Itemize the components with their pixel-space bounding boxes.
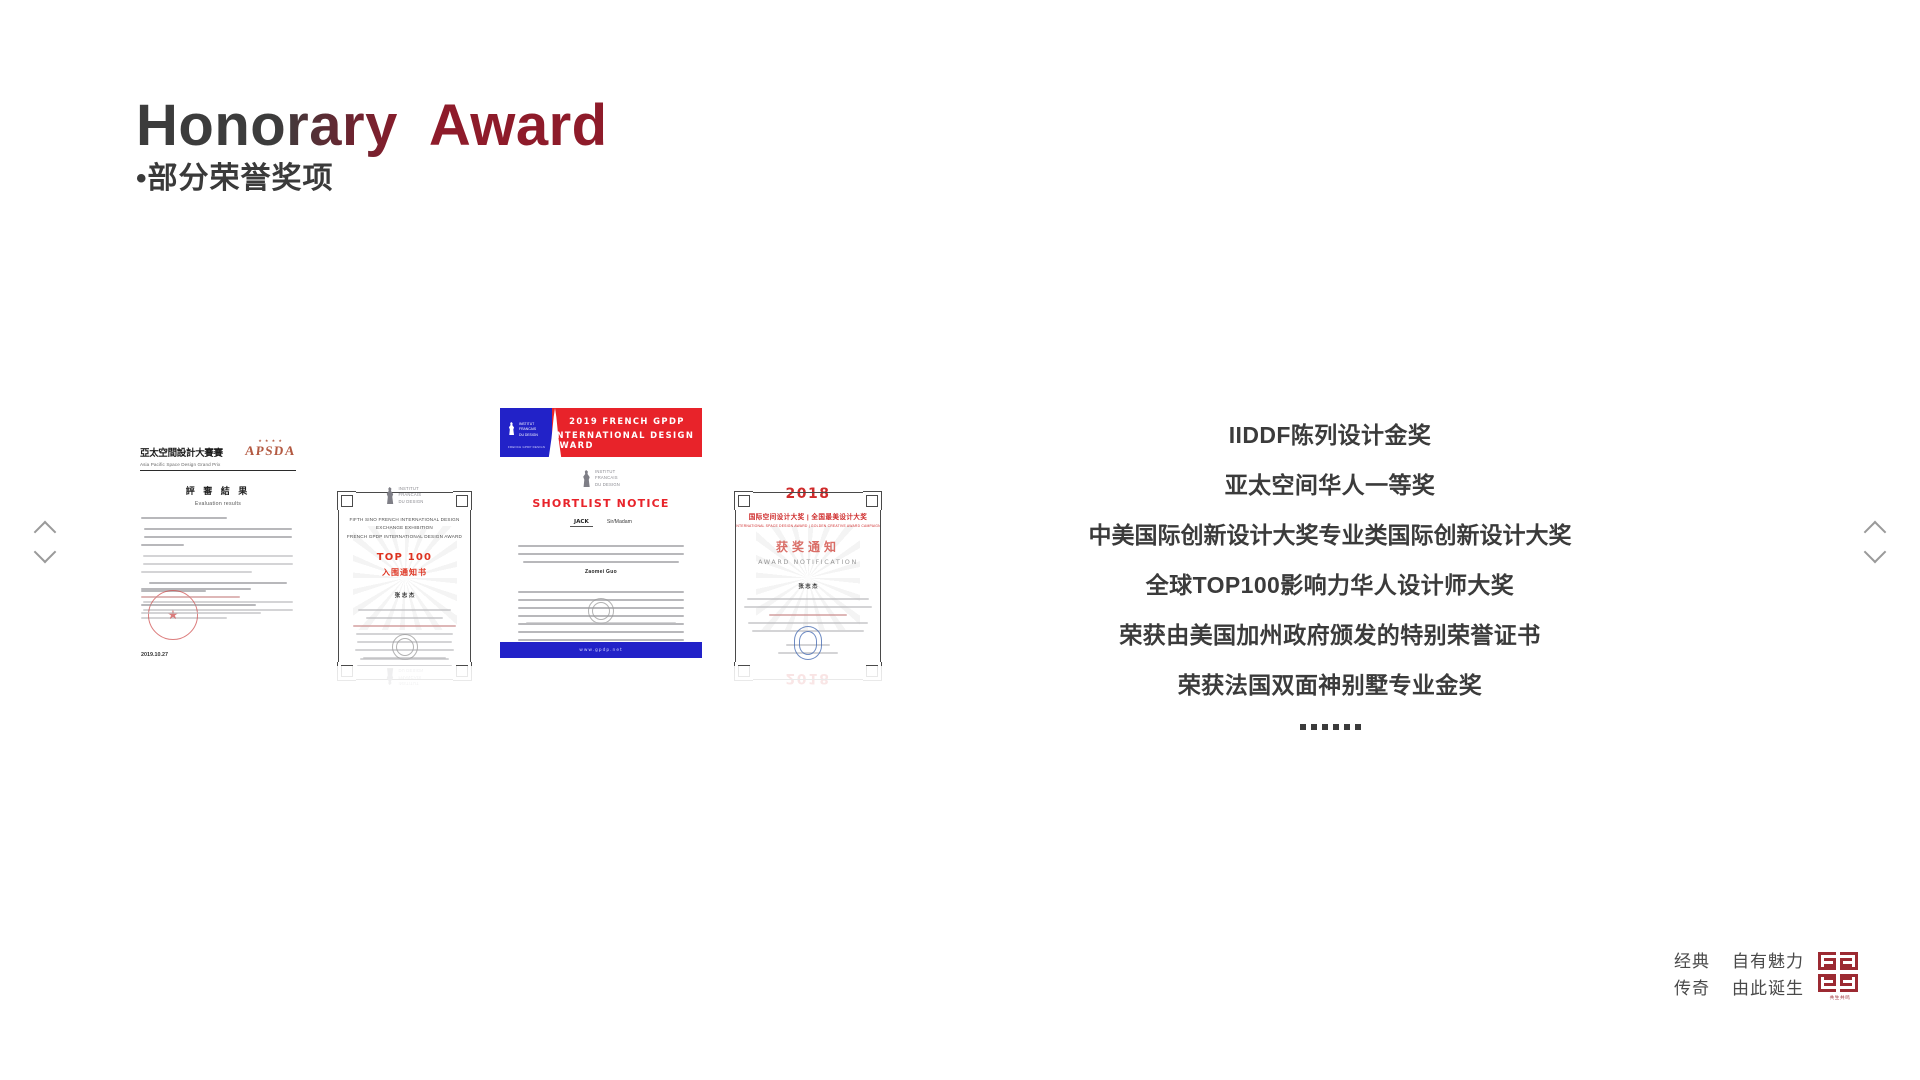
award2018-heading-en: AWARD NOTIFICATION: [729, 558, 887, 566]
ellipsis-dot: [1333, 724, 1339, 730]
maze-logo-icon: [1818, 952, 1858, 992]
top100-institute-logo: INSTITUT FRANCAIS DU DESIGN: [332, 486, 477, 505]
chevron-down-icon-left[interactable]: [34, 542, 56, 564]
shortlist-band-line1: 2019 FRENCH GPDP: [569, 416, 685, 426]
award-item-2: 中美国际创新设计大奖专业类国际创新设计大奖: [1060, 524, 1600, 547]
ellipsis-dot: [1300, 724, 1306, 730]
apsda-brand: APSDA: [244, 443, 297, 459]
award-ellipsis: [1060, 724, 1600, 730]
apsda-header: 亞太空間設計大賽賽 ★ ★ ★ ★ APSDA: [132, 430, 304, 462]
award2018-year: 2018: [729, 486, 887, 502]
top100-inst-line2: FRANCAIS: [398, 675, 421, 680]
shortlist-band-line2: INTERNATIONAL DESIGN AWARD: [552, 430, 702, 450]
page-subtitle: •部分荣誉奖项: [136, 161, 608, 197]
award-item-1: 亚太空间华人一等奖: [1060, 474, 1600, 497]
certificate-apsda[interactable]: 亞太空間設計大賽賽 ★ ★ ★ ★ APSDA Asia Pacific Spa…: [132, 430, 304, 666]
top100-ornament-border: [332, 666, 477, 686]
top100-inst-line3: DU DESIGN: [398, 668, 423, 673]
shortlist-blue-panel: INSTITUT FRANCAIS DU DESIGN FRENCH GPDP …: [500, 408, 552, 457]
award2018-ornament-border: [729, 666, 887, 686]
shortlist-url-bar: www.gpdp.net: [500, 642, 702, 658]
award2018-heading-cn: 获奖通知: [729, 538, 887, 555]
brand-tagline-col1: 经典 传奇: [1674, 949, 1710, 1002]
nav-arrows-right[interactable]: [1858, 518, 1892, 564]
ellipsis-dot: [1355, 724, 1361, 730]
brand-col2-line2: 由此诞生: [1732, 976, 1804, 1002]
apsda-subtitle-en: Asia Pacific Space Design Grand Prix: [132, 462, 304, 467]
brand-logo: 共生共鸣: [1818, 952, 1862, 1000]
shortlist-blue-footer: FRENCH GPDP DESIGN: [508, 445, 545, 449]
marianne-figure-icon-blue: [508, 422, 515, 435]
top100-en-line1: FIFTH SINO FRENCH INTERNATIONAL DESIGN: [332, 516, 477, 524]
brand-col1-line2: 传奇: [1674, 976, 1710, 1002]
ellipsis-dot: [1322, 724, 1328, 730]
ellipsis-dot: [1311, 724, 1317, 730]
shortlist-blue-line2: FRANCAIS: [519, 427, 536, 431]
top100-institute-logo: INSTITUT FRANCAIS DU DESIGN: [332, 667, 477, 686]
shortlist-header-band: INSTITUT FRANCAIS DU DESIGN FRENCH GPDP …: [500, 408, 702, 457]
top100-inst-line1: INSTITUT: [398, 681, 418, 686]
chevron-up-icon-left[interactable]: [34, 518, 56, 540]
award-item-0: IIDDF陈列设计金奖: [1060, 424, 1600, 447]
top100-en-line2: EXCHANGE EXHIBITION: [332, 524, 477, 532]
top100-inst-line2: FRANCAIS: [398, 492, 421, 497]
certificate-top100-reflection: INSTITUT FRANCAIS DU DESIGN FIFTH SINO F…: [332, 666, 477, 822]
top100-inst-line1: INSTITUT: [398, 486, 418, 491]
shortlist-title: SHORTLIST NOTICE: [500, 497, 702, 510]
shortlist-inst-line1: INSTITUT: [595, 469, 615, 474]
brand-col2-line1: 自有魅力: [1732, 949, 1804, 975]
top100-label-cn: 入围通知书: [332, 567, 477, 578]
shortlist-salutation: Sir/Madam: [607, 519, 632, 525]
top100-emblem-icon: [392, 634, 418, 660]
certificate-shortlist[interactable]: INSTITUT FRANCAIS DU DESIGN FRENCH GPDP …: [500, 408, 702, 658]
shortlist-institute-logo: INSTITUT FRANCAIS DU DESIGN: [500, 469, 702, 488]
top100-en-line3: FRENCH GPDP INTERNATIONAL DESIGN AWARD: [332, 533, 477, 541]
brand-mark-caption: 共生共鸣: [1818, 995, 1862, 1001]
top100-recipient: 张 志 杰: [332, 591, 477, 599]
page-title: Honorary Award: [136, 96, 608, 157]
shortlist-center-note: Zaomei Guo: [500, 569, 702, 575]
heading-block: Honorary Award •部分荣誉奖项: [136, 96, 608, 197]
chevron-down-icon-right[interactable]: [1864, 542, 1886, 564]
shortlist-inst-line2: FRANCAIS: [595, 475, 618, 480]
apsda-title-cn: 亞太空間設計大賽賽: [140, 445, 223, 459]
certificate-award2018-reflection: 2018 国际空间设计大奖 | 全国最美设计大奖 INTERNATIONAL S…: [729, 666, 887, 822]
brand-tagline-col2: 自有魅力 由此诞生: [1732, 949, 1804, 1002]
award-item-5: 荣获法国双面神别墅专业金奖: [1060, 674, 1600, 697]
shortlist-body-text: [500, 535, 702, 563]
shortlist-inst-line3: DU DESIGN: [595, 482, 620, 487]
award2018-year: 2018: [729, 670, 887, 686]
shortlist-recipient: JACK: [570, 519, 593, 527]
certificate-shortlist-reflection: INSTITUT FRANCAIS DU DESIGN FRENCH GPDP …: [500, 658, 702, 853]
brand-footer: 经典 传奇 自有魅力 由此诞生 共生共鸣: [1674, 949, 1862, 1002]
award-item-4: 荣获由美国加州政府颁发的特别荣誉证书: [1060, 624, 1600, 647]
marianne-figure-icon: [385, 487, 394, 504]
slide-root: Honorary Award •部分荣誉奖项 亞太空間設計大賽賽 ★ ★ ★ ★…: [0, 0, 1920, 1080]
certificate-gallery: 亞太空間設計大賽賽 ★ ★ ★ ★ APSDA Asia Pacific Spa…: [132, 408, 900, 828]
certificate-award2018[interactable]: 2018 国际空间设计大奖 | 全国最美设计大奖 INTERNATIONAL S…: [729, 466, 887, 666]
shortlist-emblem-icon: [588, 598, 614, 624]
ellipsis-dot: [1344, 724, 1350, 730]
apsda-divider: [140, 470, 296, 471]
shortlist-blue-line3: DU DESIGN: [519, 433, 538, 437]
award-item-3: 全球TOP100影响力华人设计师大奖: [1060, 574, 1600, 597]
award2018-title-cn: 国际空间设计大奖 | 全国最美设计大奖: [729, 511, 887, 521]
certificate-apsda-reflection: 亞太空間設計大賽賽 ★ ★ ★ ★ APSDA Asia Pacific Spa…: [132, 666, 304, 850]
award2018-title-en: INTERNATIONAL SPACE DESIGN AWARD | GOLDE…: [729, 524, 887, 528]
top100-label: TOP 100: [332, 552, 477, 563]
shortlist-footer: www.gpdp.net: [500, 642, 702, 658]
brand-col1-line1: 经典: [1674, 949, 1710, 975]
top100-inst-line3: DU DESIGN: [398, 499, 423, 504]
shortlist-red-panel: 2019 FRENCH GPDP INTERNATIONAL DESIGN AW…: [552, 408, 702, 457]
apsda-date: 2019.10.27: [141, 652, 168, 658]
top100-en-lines: FIFTH SINO FRENCH INTERNATIONAL DESIGN E…: [332, 516, 477, 541]
marianne-figure-icon: [385, 668, 394, 685]
marianne-figure-icon-2: [582, 470, 591, 487]
shortlist-address-line: JACK Sir/Madam: [500, 519, 702, 527]
chevron-up-icon-right[interactable]: [1864, 518, 1886, 540]
brand-tagline: 经典 传奇 自有魅力 由此诞生: [1674, 949, 1804, 1002]
award-list: IIDDF陈列设计金奖 亚太空间华人一等奖 中美国际创新设计大奖专业类国际创新设…: [1060, 424, 1600, 730]
apsda-heading-cn: 評 審 結 果: [132, 484, 304, 497]
certificate-top100[interactable]: INSTITUT FRANCAIS DU DESIGN FIFTH SINO F…: [332, 466, 477, 666]
award2018-emblem-icon: [794, 626, 822, 660]
award2018-recipient: 张 志 杰: [729, 582, 887, 590]
nav-arrows-left[interactable]: [28, 518, 62, 564]
shortlist-blue-line1: INSTITUT: [519, 422, 534, 426]
